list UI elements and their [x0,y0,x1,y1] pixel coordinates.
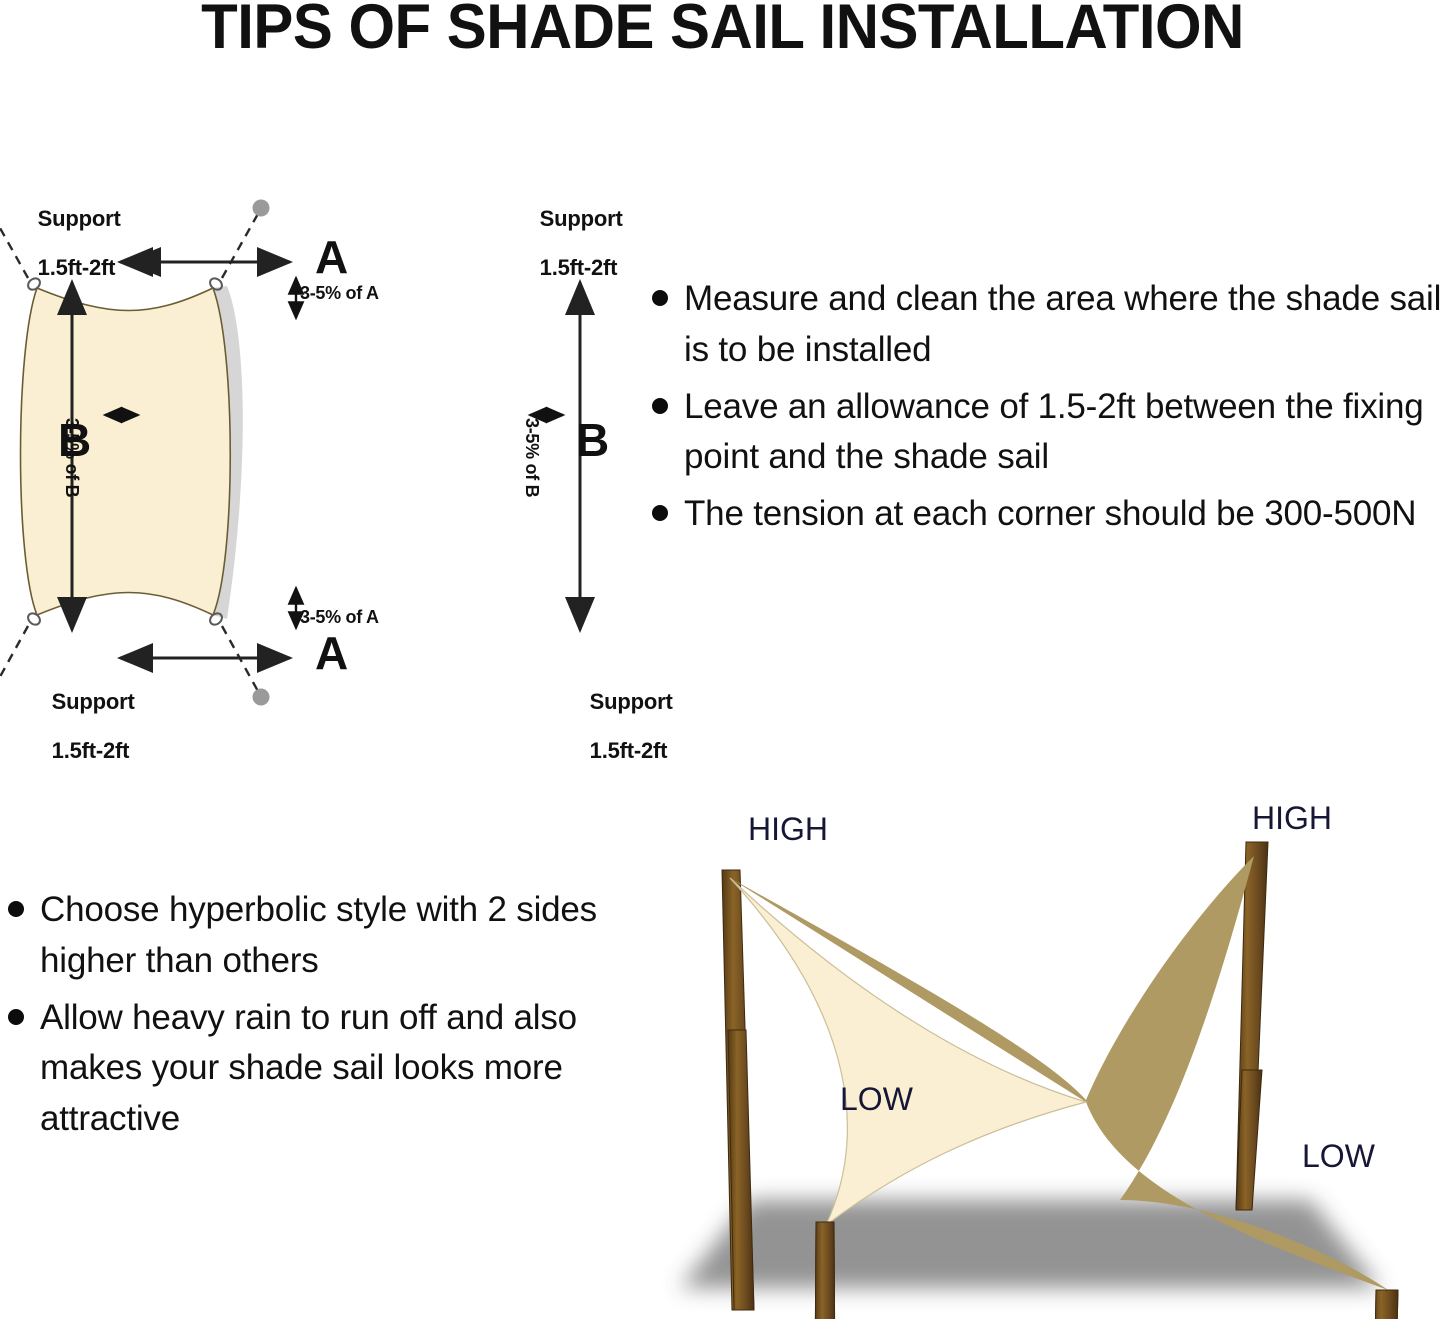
post-label-low-left: LOW [840,1082,913,1118]
bullet-dot-icon [8,1009,24,1025]
dimension-letter-a-bottom: A [315,628,348,680]
support-label-line2: 1.5ft-2ft [590,738,668,763]
support-label-line1: Support [590,689,673,714]
support-label-bottom-left: Support 1.5ft-2ft [28,665,135,788]
list-item-text: Measure and clean the area where the sha… [684,274,1445,376]
dimension-letter-a-top: A [315,232,348,284]
bullet-dot-icon [8,901,24,917]
list-item-text: Choose hyperbolic style with 2 sides hig… [40,885,633,987]
bullet-dot-icon [652,290,668,306]
hyperbolic-sail-illustration [650,770,1445,1319]
bullet-dot-icon [652,398,668,414]
support-label-line1: Support [540,206,623,231]
list-item: Measure and clean the area where the sha… [652,274,1445,376]
list-item-text: The tension at each corner should be 300… [684,489,1416,540]
sag-label-bottom: 3-5% of A [300,607,379,627]
list-item: Allow heavy rain to run off and also mak… [8,993,633,1145]
support-label-line1: Support [38,206,121,231]
post-label-high-right: HIGH [1252,801,1332,837]
sail-body [21,288,231,615]
list-item-text: Allow heavy rain to run off and also mak… [40,993,633,1145]
support-label-line2: 1.5ft-2ft [52,738,130,763]
installation-tips-list-left: Choose hyperbolic style with 2 sides hig… [8,885,633,1151]
dimension-letter-b-right: B [576,415,609,467]
infographic-page: TIPS OF SHADE SAIL INSTALLATION [0,0,1445,1319]
support-label-line2: 1.5ft-2ft [540,255,618,280]
page-title: TIPS OF SHADE SAIL INSTALLATION [36,0,1409,60]
post-low-left-front [815,1222,835,1319]
support-label-line1: Support [52,689,135,714]
list-item: Choose hyperbolic style with 2 sides hig… [8,885,633,987]
sag-label-left: 3-5% of B [62,418,82,497]
support-label-top-right: Support 1.5ft-2ft [516,182,623,305]
sag-label-right: 3-5% of B [522,418,542,497]
installation-tips-list-right: Measure and clean the area where the sha… [652,274,1445,546]
list-item-text: Leave an allowance of 1.5-2ft between th… [684,382,1445,484]
post-low-right-front [1372,1290,1398,1319]
post-label-high-left: HIGH [748,812,828,848]
sag-label-top: 3-5% of A [300,283,379,303]
list-item: Leave an allowance of 1.5-2ft between th… [652,382,1445,484]
post-label-low-right: LOW [1302,1139,1375,1175]
support-label-top-left: Support 1.5ft-2ft [14,182,121,305]
bullet-dot-icon [652,505,668,521]
support-label-line2: 1.5ft-2ft [38,255,116,280]
sail-panel-cream [730,878,1086,1225]
list-item: The tension at each corner should be 300… [652,489,1445,540]
